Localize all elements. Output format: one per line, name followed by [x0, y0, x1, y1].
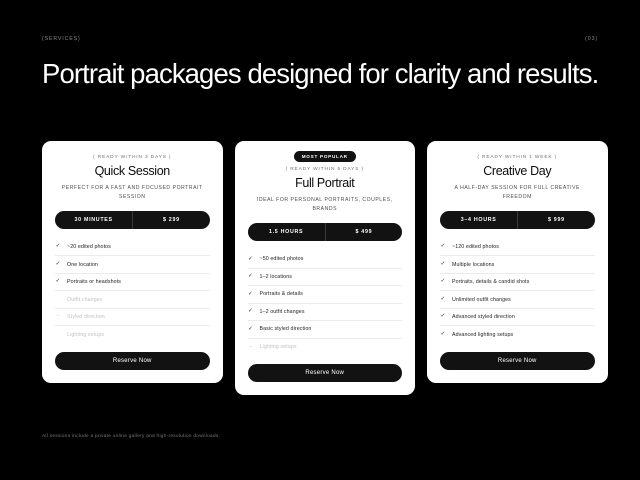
dash-icon: – [248, 345, 254, 351]
check-icon: ✓ [440, 332, 446, 338]
card-duration-value: 1.5 HOURS [248, 223, 325, 241]
feature-item: ✓ 1–2 outfit changes [248, 304, 403, 322]
feature-label: Lighting setups [260, 344, 403, 350]
card-description: IDEAL FOR PERSONAL PORTRAITS, COUPLES, B… [248, 196, 403, 214]
check-icon: ✓ [440, 262, 446, 268]
pricing-card-list: ( READY WITHIN 3 DAYS ) Quick Session PE… [42, 141, 608, 395]
check-icon: ✓ [440, 279, 446, 285]
feature-label: Portraits or headshots [67, 279, 210, 285]
card-duration-price-pill: 3–4 HOURS $ 999 [440, 211, 595, 229]
card-description: PERFECT FOR A FAST AND FOCUSED PORTRAIT … [55, 184, 210, 202]
feature-label: Portraits & details [260, 291, 403, 297]
card-duration-price-pill: 30 MINUTES $ 299 [55, 211, 210, 229]
check-icon: ✓ [440, 314, 446, 320]
feature-label: Outfit changes [67, 297, 210, 303]
reserve-now-button[interactable]: Reserve Now [440, 352, 595, 370]
feature-label: One location [67, 262, 210, 268]
feature-item: ✓ Unlimited outfit changes [440, 291, 595, 309]
reserve-now-button[interactable]: Reserve Now [55, 352, 210, 370]
feature-label: Basic styled direction [260, 326, 403, 332]
check-icon: ✓ [440, 297, 446, 303]
feature-label: ~20 edited photos [67, 244, 210, 250]
card-duration-value: 3–4 HOURS [440, 211, 517, 229]
feature-item: ✓ Portraits & details [248, 286, 403, 304]
check-icon: ✓ [248, 327, 254, 333]
dash-icon: – [55, 314, 61, 320]
pricing-card-quick-session[interactable]: ( READY WITHIN 3 DAYS ) Quick Session PE… [42, 141, 223, 383]
feature-label: Portraits, details & candid shots [452, 279, 595, 285]
feature-item: Lighting setups [55, 326, 210, 344]
feature-item: – Lighting setups [248, 339, 403, 357]
check-icon: ✓ [55, 244, 61, 250]
check-icon: ✓ [248, 274, 254, 280]
feature-item: ✓ Advanced styled direction [440, 309, 595, 327]
pricing-card-creative-day[interactable]: ( READY WITHIN 1 WEEK ) Creative Day A H… [427, 141, 608, 383]
feature-item: ✓ One location [55, 256, 210, 274]
card-feature-list: ✓ ~50 edited photos ✓ 1–2 locations ✓ Po… [248, 251, 403, 356]
card-price-value: $ 499 [325, 223, 402, 241]
footnote-text: All sessions include a private online ga… [42, 433, 220, 438]
feature-item: ✓ Portraits or headshots [55, 274, 210, 292]
section-count-label: (03) [585, 36, 598, 42]
feature-item: Outfit changes [55, 291, 210, 309]
check-icon: ✓ [55, 279, 61, 285]
card-feature-list: ✓ ~20 edited photos ✓ One location ✓ Por… [55, 239, 210, 344]
card-availability-label: ( READY WITHIN 1 WEEK ) [440, 155, 595, 160]
feature-item: – Styled direction [55, 309, 210, 327]
feature-label: Unlimited outfit changes [452, 297, 595, 303]
check-icon: ✓ [440, 244, 446, 250]
most-popular-badge: MOST POPULAR [294, 151, 356, 162]
feature-label: Advanced styled direction [452, 314, 595, 320]
feature-label: 1–2 outfit changes [260, 309, 403, 315]
card-badge-wrap: MOST POPULAR [248, 151, 403, 162]
page-title: Portrait packages designed for clarity a… [42, 57, 602, 91]
reserve-now-button[interactable]: Reserve Now [248, 364, 403, 382]
card-price-value: $ 299 [132, 211, 209, 229]
feature-item: ✓ ~20 edited photos [55, 239, 210, 257]
feature-label: Styled direction [67, 314, 210, 320]
card-title: Quick Session [55, 164, 210, 178]
feature-item: ✓ Advanced lighting setups [440, 326, 595, 344]
check-icon: ✓ [55, 262, 61, 268]
feature-item: ✓ Multiple locations [440, 256, 595, 274]
pricing-card-full-portrait[interactable]: MOST POPULAR ( READY WITHIN 5 DAYS ) Ful… [235, 141, 416, 395]
card-duration-price-pill: 1.5 HOURS $ 499 [248, 223, 403, 241]
feature-label: ~120 edited photos [452, 244, 595, 250]
feature-item: ✓ Basic styled direction [248, 321, 403, 339]
feature-label: 1–2 locations [260, 274, 403, 280]
feature-label: Lighting setups [67, 332, 210, 338]
pricing-page: (SERVICES) (03) Portrait packages design… [0, 0, 640, 480]
feature-item: ✓ Portraits, details & candid shots [440, 274, 595, 292]
section-eyebrow-label: (SERVICES) [42, 36, 81, 42]
feature-item: ✓ ~50 edited photos [248, 251, 403, 269]
card-availability-label: ( READY WITHIN 5 DAYS ) [248, 167, 403, 172]
card-duration-value: 30 MINUTES [55, 211, 132, 229]
feature-label: Advanced lighting setups [452, 332, 595, 338]
card-price-value: $ 999 [517, 211, 594, 229]
check-icon: ✓ [248, 257, 254, 263]
card-title: Full Portrait [248, 176, 403, 190]
check-icon: ✓ [248, 309, 254, 315]
feature-item: ✓ ~120 edited photos [440, 239, 595, 257]
section-meta-row: (SERVICES) (03) [42, 36, 598, 42]
feature-label: Multiple locations [452, 262, 595, 268]
card-availability-label: ( READY WITHIN 3 DAYS ) [55, 155, 210, 160]
feature-label: ~50 edited photos [260, 256, 403, 262]
card-feature-list: ✓ ~120 edited photos ✓ Multiple location… [440, 239, 595, 344]
card-description: A HALF-DAY SESSION FOR FULL CREATIVE FRE… [440, 184, 595, 202]
card-title: Creative Day [440, 164, 595, 178]
feature-item: ✓ 1–2 locations [248, 269, 403, 287]
check-icon: ✓ [248, 292, 254, 298]
